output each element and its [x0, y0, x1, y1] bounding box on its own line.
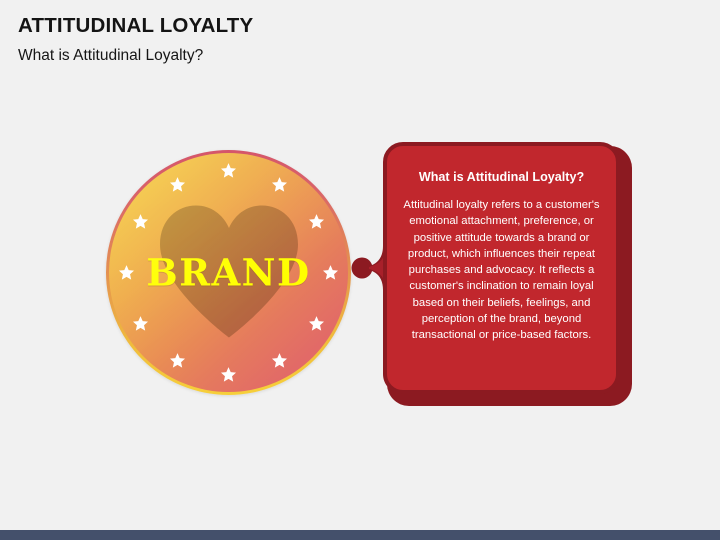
footer-bar — [0, 530, 720, 540]
star-icon — [308, 213, 325, 230]
star-icon — [169, 176, 186, 193]
callout-heading: What is Attitudinal Loyalty? — [403, 170, 600, 185]
star-icon — [271, 176, 288, 193]
badge-ring: BRAND — [106, 150, 351, 395]
star-icon — [271, 352, 288, 369]
page-title: ATTITUDINAL LOYALTY — [18, 14, 678, 38]
callout-body: What is Attitudinal Loyalty? Attitudinal… — [383, 142, 620, 394]
star-icon — [132, 315, 149, 332]
callout-bubble: What is Attitudinal Loyalty? Attitudinal… — [383, 142, 632, 406]
star-icon — [132, 213, 149, 230]
star-icon — [169, 352, 186, 369]
slide-header: ATTITUDINAL LOYALTY What is Attitudinal … — [18, 14, 678, 64]
star-icon — [220, 366, 237, 383]
brand-badge: BRAND — [106, 150, 351, 395]
brand-label: BRAND — [109, 254, 348, 291]
badge-face: BRAND — [109, 153, 348, 392]
page-subtitle: What is Attitudinal Loyalty? — [18, 47, 678, 65]
callout-text: Attitudinal loyalty refers to a customer… — [403, 197, 600, 343]
star-icon — [220, 162, 237, 179]
star-icon — [308, 315, 325, 332]
